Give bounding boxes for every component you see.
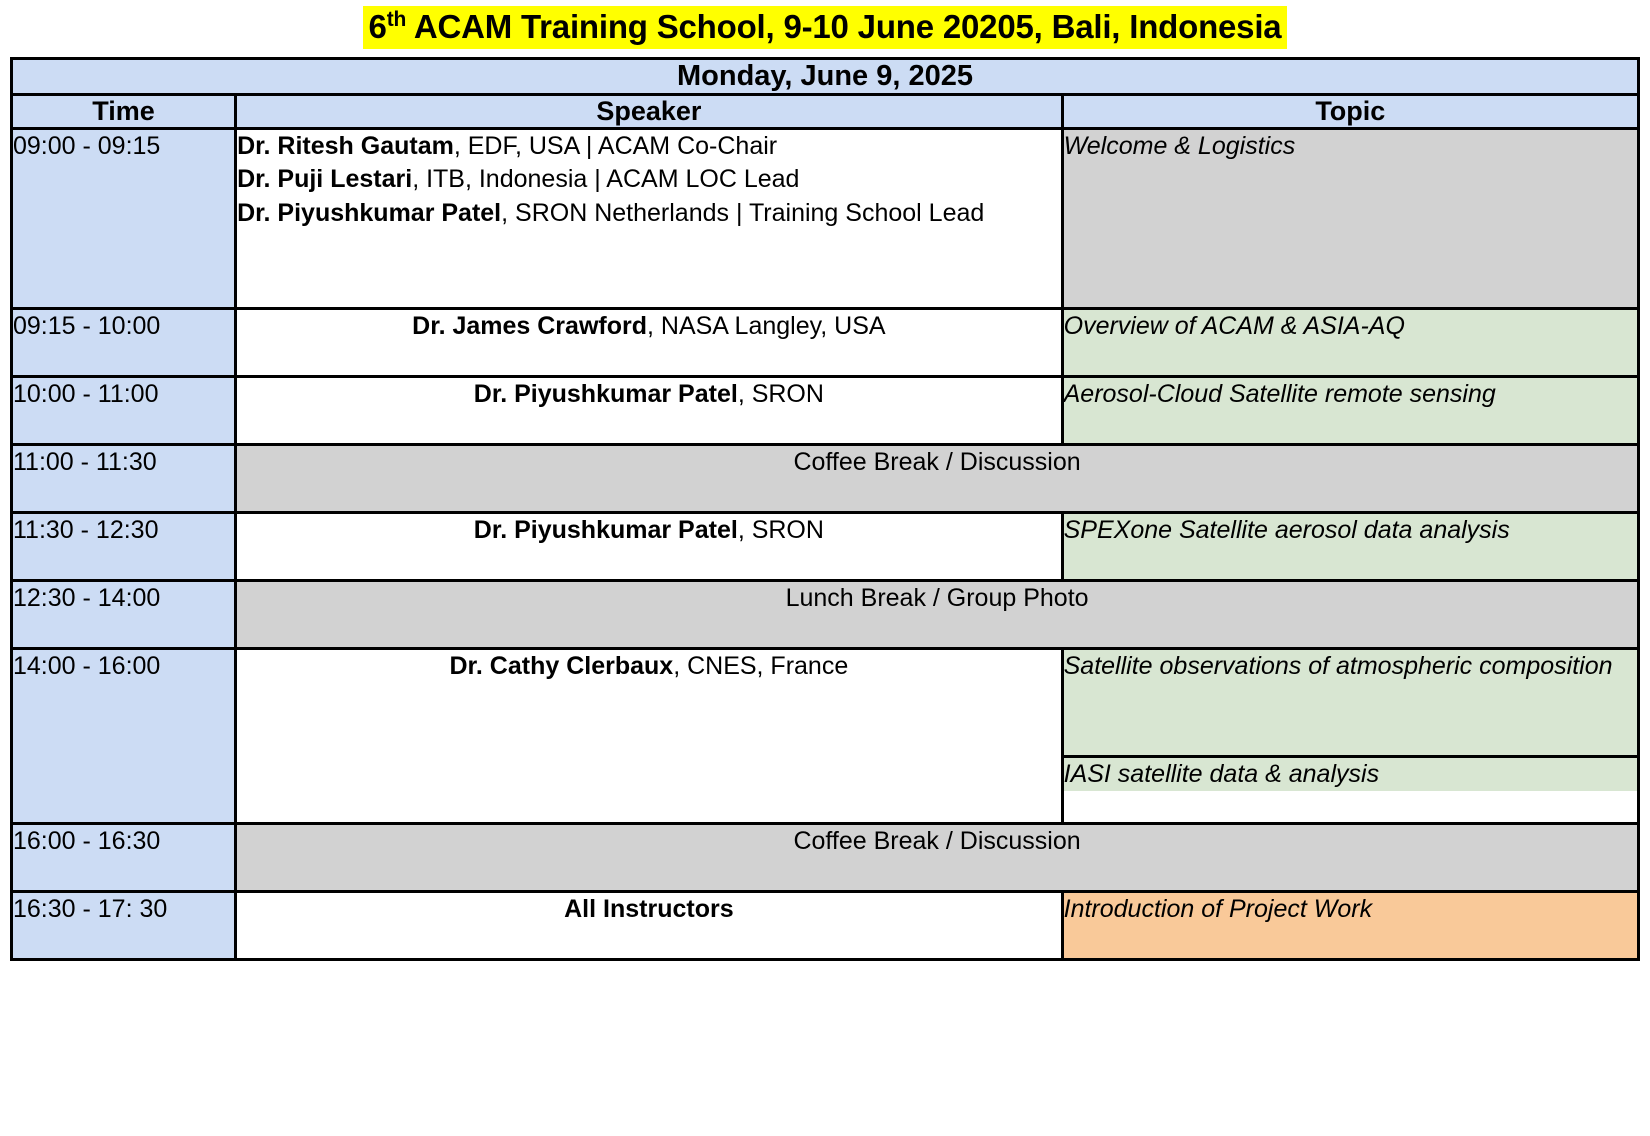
schedule-page: 6th ACAM Training School, 9-10 June 2020… [0,0,1650,1136]
day-header-cell: Monday, June 9, 2025 [12,59,1639,95]
page-title-wrapper: 6th ACAM Training School, 9-10 June 2020… [0,0,1650,57]
column-header-speaker: Speaker [236,95,1063,129]
table-row: 09:15 - 10:00 Dr. James Crawford, NASA L… [12,309,1639,377]
column-header-time: Time [12,95,236,129]
row-topic-split: Satellite observations of atmospheric co… [1062,649,1638,824]
speaker-line: Dr. Ritesh Gautam, EDF, USA | ACAM Co-Ch… [237,130,1061,163]
topic-split-table: Satellite observations of atmospheric co… [1064,650,1637,791]
row-topic: Overview of ACAM & ASIA-AQ [1062,309,1638,377]
title-prefix: 6 [369,8,387,45]
topic-split-row: Satellite observations of atmospheric co… [1064,650,1637,757]
column-header-row: Time Speaker Topic [12,95,1639,129]
speaker-name: Dr. Ritesh Gautam [237,132,454,160]
speaker-affiliation: , NASA Langley, USA [647,312,886,340]
column-header-topic: Topic [1062,95,1638,129]
day-header-row: Monday, June 9, 2025 [12,59,1639,95]
row-topic: Aerosol-Cloud Satellite remote sensing [1062,377,1638,445]
row-time: 16:30 - 17: 30 [12,892,236,960]
table-row-break: 11:00 - 11:30 Coffee Break / Discussion [12,445,1639,513]
row-time: 10:00 - 11:00 [12,377,236,445]
speaker-name: All Instructors [564,895,733,923]
speaker-affiliation: , ITB, Indonesia | ACAM LOC Lead [412,165,799,193]
row-topic-part: Satellite observations of atmospheric co… [1064,650,1637,757]
speaker-affiliation: , SRON [738,516,824,544]
row-speaker: Dr. Piyushkumar Patel, SRON [236,377,1063,445]
row-speaker: All Instructors [236,892,1063,960]
title-rest: ACAM Training School, 9-10 June 20205, B… [406,8,1281,45]
table-row: 11:30 - 12:30 Dr. Piyushkumar Patel, SRO… [12,513,1639,581]
table-row: 09:00 - 09:15 Dr. Ritesh Gautam, EDF, US… [12,129,1639,309]
row-time: 11:00 - 11:30 [12,445,236,513]
table-row-break: 16:00 - 16:30 Coffee Break / Discussion [12,824,1639,892]
row-speaker: Dr. Ritesh Gautam, EDF, USA | ACAM Co-Ch… [236,129,1063,309]
speaker-name: Dr. Piyushkumar Patel [474,516,738,544]
row-time: 16:00 - 16:30 [12,824,236,892]
speaker-name: Dr. Piyushkumar Patel [237,199,501,227]
row-time: 12:30 - 14:00 [12,581,236,649]
row-topic: Welcome & Logistics [1062,129,1638,309]
row-break-label: Lunch Break / Group Photo [236,581,1639,649]
title-ordinal-suffix: th [387,8,406,31]
row-topic: SPEXone Satellite aerosol data analysis [1062,513,1638,581]
speaker-name: Dr. Cathy Clerbaux [450,652,674,680]
table-row-break: 12:30 - 14:00 Lunch Break / Group Photo [12,581,1639,649]
speaker-affiliation: , CNES, France [673,652,848,680]
table-row: 16:30 - 17: 30 All Instructors Introduct… [12,892,1639,960]
speaker-affiliation: , SRON [738,380,824,408]
row-time: 14:00 - 16:00 [12,649,236,824]
speaker-line: Dr. Puji Lestari, ITB, Indonesia | ACAM … [237,163,1061,196]
row-topic-part: IASI satellite data & analysis [1064,757,1637,792]
row-speaker: Dr. James Crawford, NASA Langley, USA [236,309,1063,377]
speaker-name: Dr. Puji Lestari [237,165,412,193]
row-topic: Introduction of Project Work [1062,892,1638,960]
row-time: 09:15 - 10:00 [12,309,236,377]
table-row: 14:00 - 16:00 Dr. Cathy Clerbaux, CNES, … [12,649,1639,824]
speaker-name: Dr. James Crawford [412,312,647,340]
speaker-name: Dr. Piyushkumar Patel [474,380,738,408]
topic-split-row: IASI satellite data & analysis [1064,757,1637,792]
speaker-line: Dr. Piyushkumar Patel, SRON Netherlands … [237,197,1061,230]
row-break-label: Coffee Break / Discussion [236,445,1639,513]
row-time: 09:00 - 09:15 [12,129,236,309]
row-time: 11:30 - 12:30 [12,513,236,581]
table-row: 10:00 - 11:00 Dr. Piyushkumar Patel, SRO… [12,377,1639,445]
row-speaker: Dr. Piyushkumar Patel, SRON [236,513,1063,581]
schedule-table: Monday, June 9, 2025 Time Speaker Topic … [10,57,1640,961]
row-speaker: Dr. Cathy Clerbaux, CNES, France [236,649,1063,824]
row-break-label: Coffee Break / Discussion [236,824,1639,892]
page-title: 6th ACAM Training School, 9-10 June 2020… [363,6,1288,49]
speaker-affiliation: , SRON Netherlands | Training School Lea… [501,199,984,227]
speaker-affiliation: , EDF, USA | ACAM Co-Chair [454,132,777,160]
